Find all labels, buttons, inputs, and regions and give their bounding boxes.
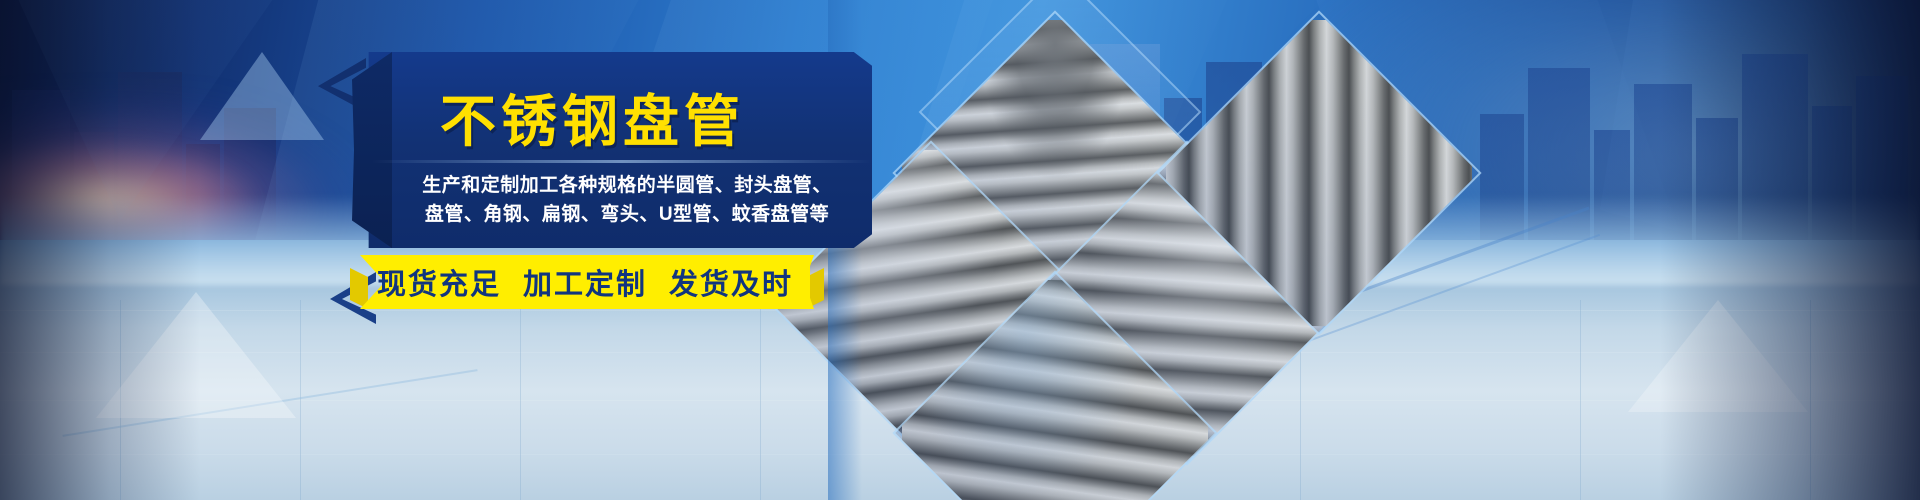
- product-photo-collage: [828, 0, 1448, 500]
- edge-shade-left: [0, 0, 200, 500]
- edge-shade-right: [1660, 0, 1920, 500]
- headline-panel-notch: [352, 52, 392, 248]
- feature-item-1: 现货充足: [377, 261, 501, 303]
- feature-item-3: 发货及时: [669, 261, 793, 303]
- subtitle-line-2: 盘管、角钢、扁钢、弯头、U型管、蚊香盘管等: [392, 199, 862, 226]
- page-title: 不锈钢盘管: [440, 94, 860, 150]
- feature-ribbon-text: 现货充足 加工定制 发货及时: [360, 255, 810, 309]
- hero-banner: 不锈钢盘管 生产和定制加工各种规格的半圆管、封头盘管、 盘管、角钢、扁钢、弯头、…: [0, 0, 1920, 500]
- feature-item-2: 加工定制: [523, 261, 647, 303]
- subtitle-line-1: 生产和定制加工各种规格的半圆管、封头盘管、: [392, 170, 862, 197]
- headline-panel-divider: [372, 160, 872, 163]
